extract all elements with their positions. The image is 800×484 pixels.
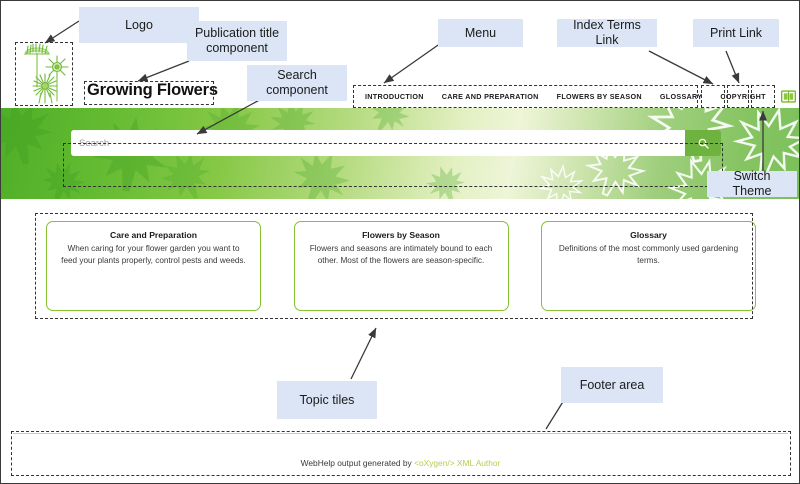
footer-prefix: WebHelp output generated by bbox=[301, 458, 414, 468]
callout-topic-tiles: Topic tiles bbox=[277, 381, 377, 419]
menu-item-flowers-by-season[interactable]: FLOWERS BY SEASON bbox=[548, 92, 651, 101]
tile-description: Flowers and seasons are intimately bound… bbox=[307, 243, 496, 266]
menu-item-care-and-preparation[interactable]: CARE AND PREPARATION bbox=[433, 92, 548, 101]
menu-item-glossary[interactable]: GLOSSARY bbox=[651, 92, 711, 101]
topic-tile[interactable]: Glossary Definitions of the most commonl… bbox=[541, 221, 756, 311]
header-icon-group bbox=[781, 89, 800, 104]
tile-description: When caring for your flower garden you w… bbox=[59, 243, 248, 266]
callout-print: Print Link bbox=[693, 19, 779, 47]
callout-search: Search component bbox=[247, 65, 347, 101]
callout-switch-theme: Switch Theme bbox=[707, 171, 797, 197]
topic-tiles: Care and Preparation When caring for you… bbox=[46, 221, 756, 311]
search-input[interactable] bbox=[71, 130, 685, 156]
flower-logo-icon bbox=[17, 41, 77, 106]
logo[interactable] bbox=[17, 41, 77, 106]
search-button[interactable] bbox=[685, 130, 721, 156]
webhelp-annotated-screenshot: Growing Flowers INTRODUCTION CARE AND PR… bbox=[0, 0, 800, 484]
tile-description: Definitions of the most commonly used ga… bbox=[554, 243, 743, 266]
hero-banner bbox=[1, 108, 799, 199]
footer-text: WebHelp output generated by <oXygen/> XM… bbox=[13, 458, 788, 468]
callout-logo: Logo bbox=[79, 7, 199, 43]
index-terms-icon[interactable] bbox=[781, 89, 796, 104]
search-icon bbox=[698, 138, 709, 149]
callout-menu: Menu bbox=[438, 19, 523, 47]
footer-area: WebHelp output generated by <oXygen/> XM… bbox=[13, 433, 788, 474]
callout-index-terms: Index Terms Link bbox=[557, 19, 657, 47]
page-title: Growing Flowers bbox=[87, 81, 218, 100]
footer-oxygen-link[interactable]: <oXygen/> XML Author bbox=[414, 458, 500, 468]
tile-title: Flowers by Season bbox=[307, 230, 496, 240]
topic-tile[interactable]: Flowers by Season Flowers and seasons ar… bbox=[294, 221, 509, 311]
callout-publication-title: Publication title component bbox=[187, 21, 287, 61]
menu-item-copyright[interactable]: COPYRIGHT bbox=[711, 92, 774, 101]
tile-title: Care and Preparation bbox=[59, 230, 248, 240]
topic-tile[interactable]: Care and Preparation When caring for you… bbox=[46, 221, 261, 311]
callout-footer-area: Footer area bbox=[561, 367, 663, 403]
search-component bbox=[71, 130, 721, 156]
main-menu: INTRODUCTION CARE AND PREPARATION FLOWER… bbox=[356, 87, 781, 106]
tile-title: Glossary bbox=[554, 230, 743, 240]
menu-item-introduction[interactable]: INTRODUCTION bbox=[356, 92, 433, 101]
arrow-topic-tiles bbox=[351, 328, 376, 379]
